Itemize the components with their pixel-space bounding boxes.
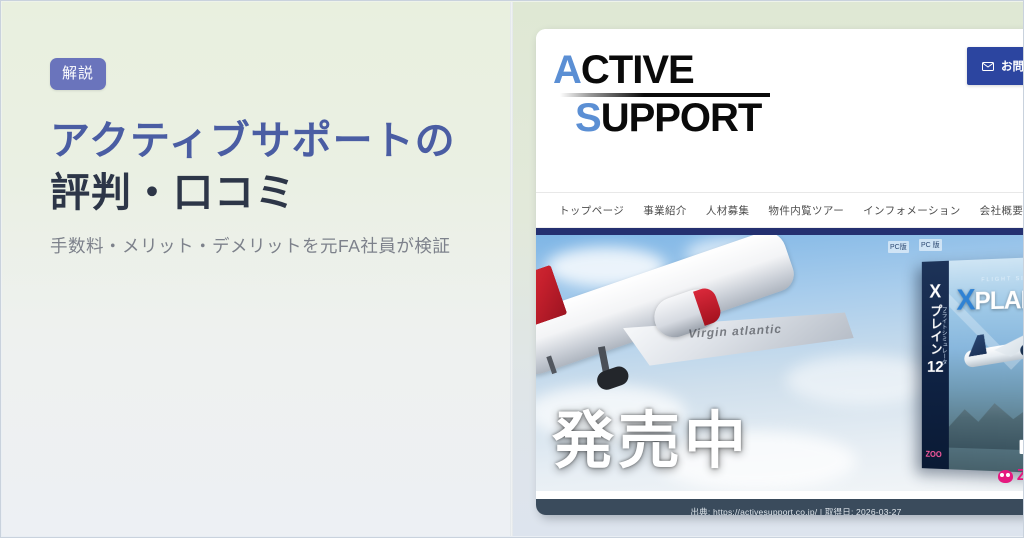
product-x-letter: X: [956, 284, 974, 317]
product-box: X プレイン 12 ZOO フライトシミュレータ FLIGHT SIMULATO…: [922, 256, 1024, 474]
hero-image: Virgin atlantic PC版 PC 版 X プレイン 12 ZOO フ…: [536, 235, 1024, 491]
pc-label-left: PC版: [888, 241, 909, 253]
nav-item-information[interactable]: インフォメーション: [863, 203, 961, 218]
logo-letter-a: A: [553, 48, 581, 92]
spine-x-letter: X: [929, 283, 941, 302]
page-title-line-2: 評判・口コミ: [50, 167, 510, 219]
product-box-spine: X プレイン 12 ZOO: [922, 261, 949, 469]
logo-letter-s: S: [575, 96, 601, 140]
envelope-icon: [982, 62, 994, 71]
source-attribution-bar: 出典: https://activesupport.co.jp/ | 取得日: …: [536, 499, 1024, 515]
site-navigation: トップページ 事業紹介 人材募集 物件内覧ツアー インフォメーション 会社概要 …: [536, 193, 1024, 228]
page-subtitle: 手数料・メリット・デメリットを元FA社員が検証: [50, 233, 510, 258]
logo-row-active: ACTIVE: [553, 51, 768, 90]
pc-label-right: PC 版: [919, 239, 942, 251]
spine-brand: ZOO: [926, 450, 942, 459]
logo-text-upport: UPPORT: [601, 96, 762, 140]
language-badge: 日本語版: [1020, 440, 1024, 455]
site-logo[interactable]: ACTIVE SUPPORT: [553, 51, 768, 138]
mountain-graphic: [949, 393, 1024, 452]
publisher-logo: ZOO: [998, 467, 1024, 485]
hero-headline: 発売中: [552, 411, 750, 473]
article-hero-panel: 解説 アクティブサポートの 評判・口コミ 手数料・メリット・デメリットを元FA社…: [2, 2, 510, 536]
logo-row-support: SUPPORT: [553, 99, 768, 138]
hero-bottom-gap: [536, 491, 1024, 499]
publisher-name: ZOO: [1017, 467, 1024, 485]
owl-icon: [998, 470, 1013, 483]
navy-separator-band: [536, 228, 1024, 235]
contact-button-label: お問い合: [1001, 58, 1024, 74]
contact-button[interactable]: お問い合: [967, 47, 1024, 85]
product-title-text: PLANE12: [975, 284, 1024, 315]
site-preview-panel: ACTIVE SUPPORT お問い合 トップページ: [513, 2, 1024, 536]
nav-item-property-tour[interactable]: 物件内覧ツアー: [768, 203, 844, 218]
nav-item-recruit[interactable]: 人材募集: [706, 203, 750, 218]
page-title: アクティブサポートの 評判・口コミ: [50, 115, 510, 219]
nav-item-top[interactable]: トップページ: [559, 203, 624, 218]
screenshot-frame: 解説 アクティブサポートの 評判・口コミ 手数料・メリット・デメリットを元FA社…: [0, 0, 1024, 538]
product-title: XPLANE12: [956, 282, 1024, 316]
nav-item-company[interactable]: 会社概要: [980, 203, 1024, 218]
nav-item-business[interactable]: 事業紹介: [643, 203, 687, 218]
website-screenshot-card[interactable]: ACTIVE SUPPORT お問い合 トップページ: [536, 29, 1024, 515]
airplane-wheels: [595, 364, 631, 392]
product-box-front: FLIGHT SIMULATOR XPLANE12 日本語版: [949, 256, 1024, 474]
spine-subtitle: フライトシミュレータ: [939, 306, 947, 365]
page-title-line-1: アクティブサポートの: [50, 115, 510, 167]
source-text: 出典: https://activesupport.co.jp/ | 取得日: …: [690, 506, 901, 515]
site-header: ACTIVE SUPPORT お問い合: [536, 29, 1024, 193]
logo-text-ctive: CTIVE: [581, 48, 694, 92]
category-badge: 解説: [50, 58, 106, 90]
